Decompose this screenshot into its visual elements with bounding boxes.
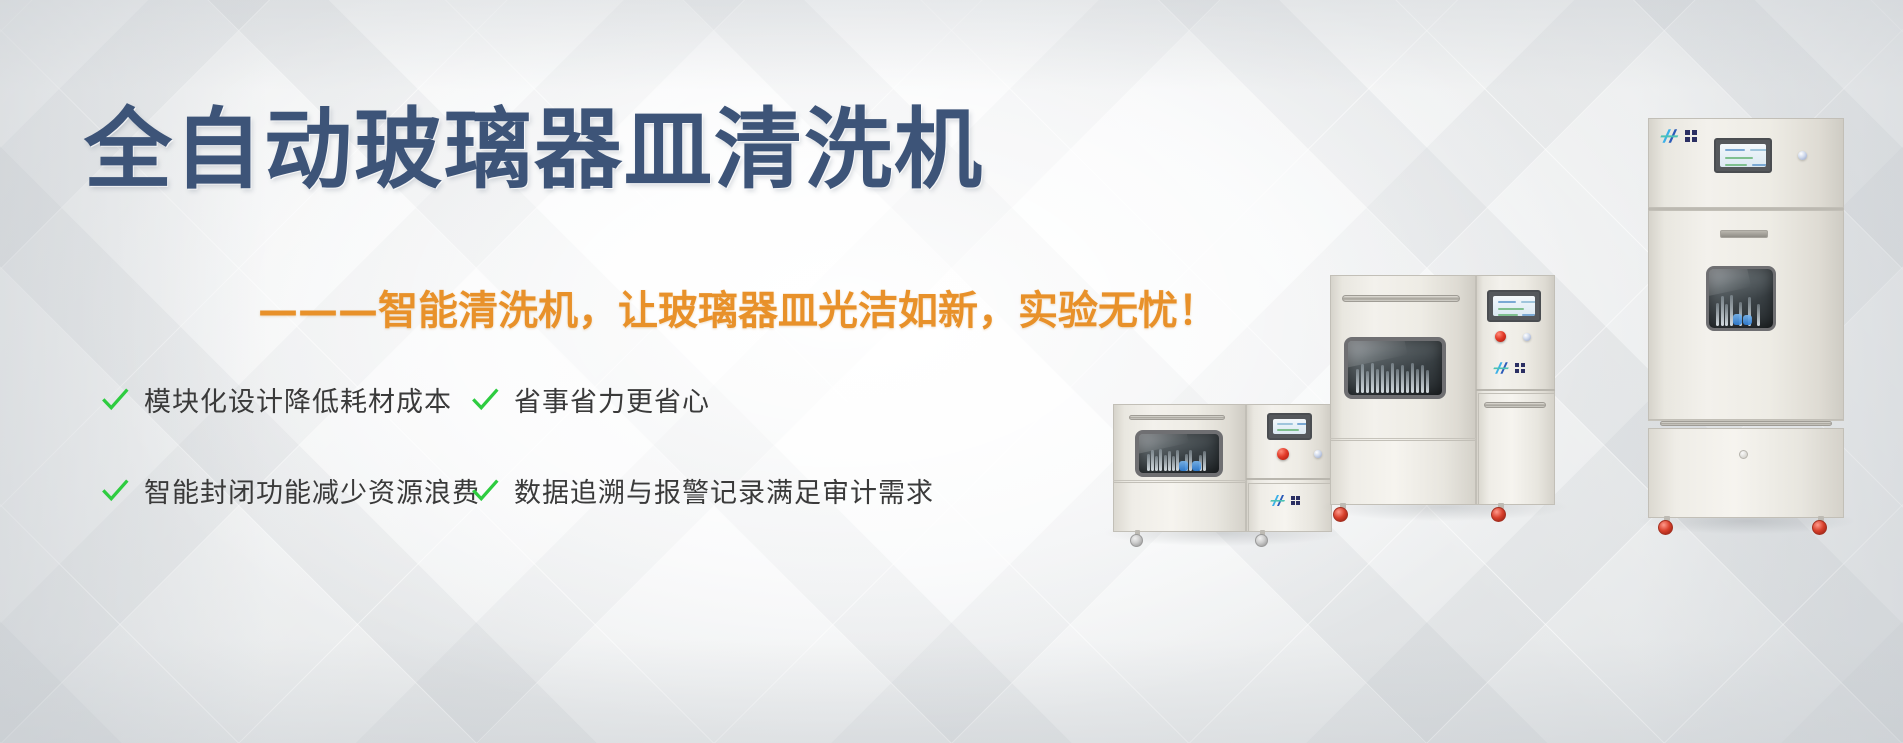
feature-label: 数据追溯与报警记录满足审计需求 [514, 471, 934, 510]
check-icon [100, 476, 130, 506]
product-banner: 全自动玻璃器皿清洗机 ———智能清洗机，让玻璃器皿光洁如新，实验无忧！ 模块化设… [0, 0, 1903, 743]
check-icon [470, 476, 500, 506]
feature-row: 模块化设计降低耗材成本 省事省力更省心 [100, 380, 930, 419]
feature-label: 模块化设计降低耗材成本 [144, 380, 452, 419]
feature-label: 智能封闭功能减少资源浪费 [144, 471, 480, 510]
feature-list: 模块化设计降低耗材成本 省事省力更省心 智能封闭功能减少资源浪费 [100, 380, 930, 562]
feature-item: 模块化设计降低耗材成本 [100, 380, 470, 419]
feature-row: 智能封闭功能减少资源浪费 数据追溯与报警记录满足审计需求 [100, 471, 930, 510]
feature-label: 省事省力更省心 [514, 380, 710, 419]
page-title: 全自动玻璃器皿清洗机 [84, 104, 984, 196]
check-icon [470, 385, 500, 415]
banner-content: 全自动玻璃器皿清洗机 ———智能清洗机，让玻璃器皿光洁如新，实验无忧！ 模块化设… [0, 0, 1903, 743]
check-icon [100, 385, 130, 415]
feature-item: 省事省力更省心 [470, 380, 910, 419]
feature-item: 数据追溯与报警记录满足审计需求 [470, 471, 910, 510]
page-subtitle: ———智能清洗机，让玻璃器皿光洁如新，实验无忧！ [258, 278, 1218, 336]
feature-item: 智能封闭功能减少资源浪费 [100, 471, 470, 510]
